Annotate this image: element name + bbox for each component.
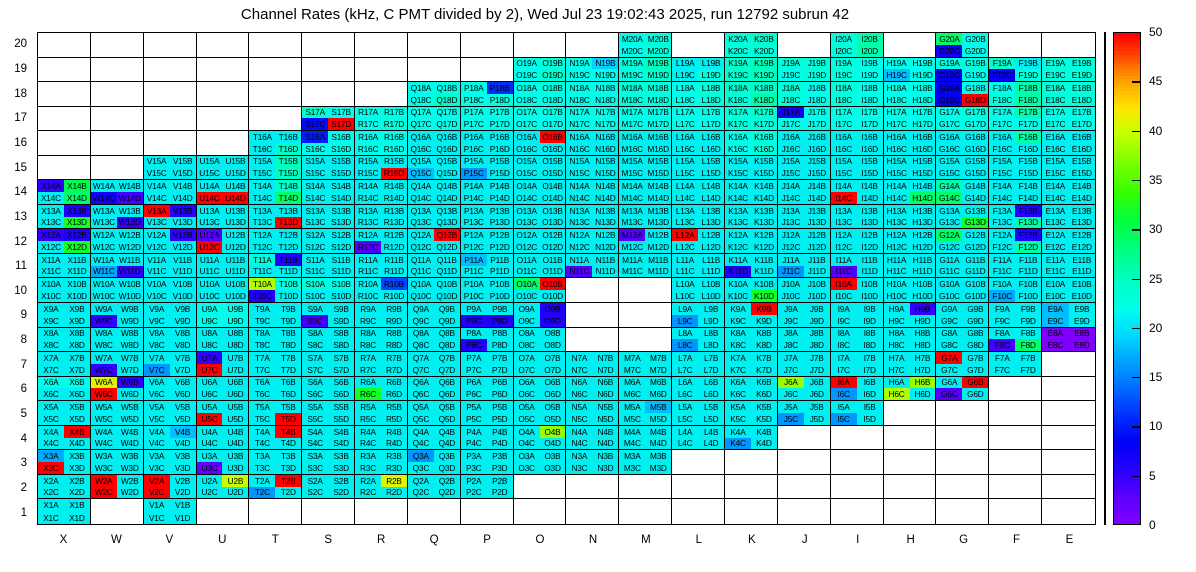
channel-G13D: G13D — [962, 217, 988, 229]
channel-J14B: J14B — [804, 180, 830, 192]
colorbar-left-rule — [1104, 32, 1106, 525]
channel-S17D: S17D — [328, 118, 354, 130]
channel-R13C: R13C — [355, 217, 381, 229]
channel-S5A: S5A — [302, 401, 328, 413]
empty-subcell — [566, 278, 592, 290]
channel-R6B: R6B — [381, 377, 407, 389]
heatmap-cell-G3 — [936, 450, 989, 475]
empty-subcell — [936, 413, 962, 425]
empty-subcell — [857, 426, 883, 438]
empty-subcell — [698, 45, 724, 57]
channel-K19D: K19D — [751, 69, 777, 81]
channel-G9D: G9D — [962, 315, 988, 327]
channel-T2B: T2B — [275, 475, 301, 487]
channel-V6D: V6D — [170, 388, 196, 400]
heatmap-cell-M7: M7AM7BM7CM7D — [619, 352, 672, 377]
heatmap-cell-V13: V13AV13BV13CV13D — [144, 205, 197, 230]
empty-subcell — [751, 487, 777, 499]
empty-subcell — [1015, 45, 1041, 57]
heatmap-cell-X6: X6AX6BX6CX6D — [38, 377, 91, 402]
heatmap-cell-X14: X14AX14BX14CX14D — [38, 180, 91, 205]
channel-T8B: T8B — [275, 328, 301, 340]
heatmap-cell-E15: E15AE15BE15CE15D — [1042, 156, 1095, 181]
empty-subcell — [936, 512, 962, 524]
heatmap-cell-R14: R14AR14BR14CR14D — [355, 180, 408, 205]
channel-J17D: J17D — [804, 118, 830, 130]
heatmap-cell-N8 — [566, 328, 619, 353]
empty-subcell — [698, 512, 724, 524]
channel-T11B: T11B — [275, 254, 301, 266]
empty-subcell — [328, 499, 354, 511]
channel-X5A: X5A — [38, 401, 64, 413]
channel-L8C: L8C — [672, 339, 698, 351]
channel-Q8D: Q8D — [434, 339, 460, 351]
heatmap-cell-R13: R13AR13BR13CR13D — [355, 205, 408, 230]
colorbar-tick-mark — [1132, 180, 1141, 181]
channel-V9B: V9B — [170, 303, 196, 315]
channel-R6A: R6A — [355, 377, 381, 389]
channel-M20B: M20B — [645, 33, 671, 45]
colorbar-tick-label: 15 — [1149, 370, 1162, 384]
channel-F18C: F18C — [989, 94, 1015, 106]
heatmap-cell-W18 — [91, 82, 144, 107]
channel-V13C: V13C — [144, 217, 170, 229]
channel-W14C: W14C — [91, 192, 117, 204]
channel-U6B: U6B — [222, 377, 248, 389]
empty-subcell — [672, 450, 698, 462]
empty-subcell — [64, 107, 90, 119]
channel-F9D: F9D — [1015, 315, 1041, 327]
empty-subcell — [117, 33, 143, 45]
channel-N12B: N12B — [592, 229, 618, 241]
heatmap-cell-N1 — [566, 499, 619, 524]
channel-F16C: F16C — [989, 143, 1015, 155]
channel-G14B: G14B — [962, 180, 988, 192]
empty-subcell — [249, 58, 275, 70]
channel-M4B: M4B — [645, 426, 671, 438]
channel-S12B: S12B — [328, 229, 354, 241]
channel-U2A: U2A — [197, 475, 223, 487]
channel-O10D: O10D — [540, 290, 566, 302]
channel-R10B: R10B — [381, 278, 407, 290]
channel-S3D: S3D — [328, 462, 354, 474]
channel-K6C: K6C — [725, 388, 751, 400]
empty-subcell — [989, 499, 1015, 511]
channel-N7B: N7B — [592, 352, 618, 364]
channel-P6D: P6D — [487, 388, 513, 400]
heatmap-cell-R11: R11AR11BR11CR11D — [355, 254, 408, 279]
heatmap-cell-O15: O15AO15BO15CO15D — [514, 156, 567, 181]
empty-subcell — [936, 487, 962, 499]
empty-subcell — [328, 82, 354, 94]
heatmap-cell-R6: R6AR6BR6CR6D — [355, 377, 408, 402]
empty-subcell — [672, 462, 698, 474]
y-tick-label: 4 — [21, 433, 27, 445]
empty-subcell — [514, 512, 540, 524]
channel-Q5B: Q5B — [434, 401, 460, 413]
empty-subcell — [117, 131, 143, 143]
heatmap-cell-F5 — [989, 401, 1042, 426]
empty-subcell — [962, 462, 988, 474]
channel-T16A: T16A — [249, 131, 275, 143]
channel-U6D: U6D — [222, 388, 248, 400]
channel-K4D: K4D — [751, 438, 777, 450]
channel-J5B: J5B — [804, 401, 830, 413]
heatmap-cell-T10: T10AT10BT10CT10D — [249, 278, 302, 303]
channel-P9A: P9A — [461, 303, 487, 315]
channel-H11C: H11C — [884, 266, 910, 278]
channel-I16C: I16C — [831, 143, 857, 155]
empty-subcell — [831, 426, 857, 438]
channel-U11D: U11D — [222, 266, 248, 278]
channel-P10A: P10A — [461, 278, 487, 290]
channel-W9B: W9B — [117, 303, 143, 315]
channel-J8B: J8B — [804, 328, 830, 340]
channel-J16C: J16C — [778, 143, 804, 155]
channel-O11A: O11A — [514, 254, 540, 266]
channel-W13A: W13A — [91, 205, 117, 217]
empty-subcell — [592, 487, 618, 499]
heatmap-cell-W3: W3AW3BW3CW3D — [91, 450, 144, 475]
heatmap-cell-X18 — [38, 82, 91, 107]
channel-L18C: L18C — [672, 94, 698, 106]
empty-subcell — [592, 499, 618, 511]
x-tick-label: Q — [430, 534, 439, 546]
channel-H12B: H12B — [910, 229, 936, 241]
heatmap-cell-W2: W2AW2BW2CW2D — [91, 475, 144, 500]
empty-subcell — [117, 499, 143, 511]
channel-X5C: X5C — [38, 413, 64, 425]
heatmap-cell-H14: H14AH14BH14CH14D — [884, 180, 937, 205]
channel-O19A: O19A — [514, 58, 540, 70]
channel-P6C: P6C — [461, 388, 487, 400]
channel-U14D: U14D — [222, 192, 248, 204]
heatmap-cell-H9: H9AH9BH9CH9D — [884, 303, 937, 328]
channel-J12C: J12C — [778, 241, 804, 253]
channel-T16C: T16C — [249, 143, 275, 155]
heatmap-cell-Q4: Q4AQ4BQ4CQ4D — [408, 426, 461, 451]
empty-subcell — [1069, 426, 1095, 438]
empty-subcell — [64, 168, 90, 180]
channel-P3C: P3C — [461, 462, 487, 474]
channel-W12D: W12D — [117, 241, 143, 253]
channel-R6C: R6C — [355, 388, 381, 400]
empty-subcell — [910, 487, 936, 499]
channel-L15B: L15B — [698, 156, 724, 168]
heatmap-cell-G4 — [936, 426, 989, 451]
heatmap-cell-X8: X8AX8BX8CX8D — [38, 328, 91, 353]
channel-R8D: R8D — [381, 339, 407, 351]
empty-subcell — [831, 475, 857, 487]
empty-subcell — [804, 45, 830, 57]
channel-E18B: E18B — [1069, 82, 1095, 94]
channel-H9C: H9C — [884, 315, 910, 327]
channel-U8C: U8C — [197, 339, 223, 351]
channel-F7B: F7B — [1015, 352, 1041, 364]
heatmap-cell-W15 — [91, 156, 144, 181]
channel-J13C: J13C — [778, 217, 804, 229]
channel-I11D: I11D — [857, 266, 883, 278]
heatmap-cell-J11: J11AJ11BJ11CJ11D — [778, 254, 831, 279]
channel-J9B: J9B — [804, 303, 830, 315]
channel-Q12B: Q12B — [434, 229, 460, 241]
channel-L5C: L5C — [672, 413, 698, 425]
empty-subcell — [645, 487, 671, 499]
channel-M14C: M14C — [619, 192, 645, 204]
channel-V1D: V1D — [170, 512, 196, 524]
empty-subcell — [989, 401, 1015, 413]
channel-E8C: E8C — [1042, 339, 1068, 351]
channel-E17B: E17B — [1069, 107, 1095, 119]
channel-K15B: K15B — [751, 156, 777, 168]
heatmap-cell-W10: W10AW10BW10CW10D — [91, 278, 144, 303]
colorbar-tick-label: 20 — [1149, 321, 1162, 335]
empty-subcell — [989, 426, 1015, 438]
channel-W9A: W9A — [91, 303, 117, 315]
channel-M16C: M16C — [619, 143, 645, 155]
heatmap-cell-R7: R7AR7BR7CR7D — [355, 352, 408, 377]
channel-N12D: N12D — [592, 241, 618, 253]
channel-T6C: T6C — [249, 388, 275, 400]
heatmap-cell-M10 — [619, 278, 672, 303]
channel-U2B: U2B — [222, 475, 248, 487]
channel-F17C: F17C — [989, 118, 1015, 130]
heatmap-cell-P20 — [461, 33, 514, 58]
channel-U9C: U9C — [197, 315, 223, 327]
colorbar-tick-label: 25 — [1149, 272, 1162, 286]
channel-J6D: J6D — [804, 388, 830, 400]
channel-M20C: M20C — [619, 45, 645, 57]
empty-subcell — [1042, 33, 1068, 45]
channel-T6B: T6B — [275, 377, 301, 389]
channel-N15A: N15A — [566, 156, 592, 168]
empty-subcell — [487, 499, 513, 511]
channel-X1A: X1A — [38, 499, 64, 511]
channel-R17B: R17B — [381, 107, 407, 119]
empty-subcell — [38, 82, 64, 94]
channel-P4A: P4A — [461, 426, 487, 438]
heatmap-cell-T4: T4AT4BT4CT4D — [249, 426, 302, 451]
heatmap-cell-S12: S12AS12BS12CS12D — [302, 229, 355, 254]
channel-J15D: J15D — [804, 168, 830, 180]
channel-K9B: K9B — [751, 303, 777, 315]
channel-P12C: P12C — [461, 241, 487, 253]
channel-H7B: H7B — [910, 352, 936, 364]
heatmap-cell-O7: O7AO7BO7CO7D — [514, 352, 567, 377]
y-tick-label: 15 — [14, 162, 27, 174]
channel-G19B: G19B — [962, 58, 988, 70]
channel-X12A: X12A — [38, 229, 64, 241]
heatmap-cell-I7: I7AI7BI7CI7D — [831, 352, 884, 377]
heatmap-cell-V1: V1AV1BV1CV1D — [144, 499, 197, 524]
heatmap-cell-I2 — [831, 475, 884, 500]
channel-W5D: W5D — [117, 413, 143, 425]
empty-subcell — [117, 45, 143, 57]
heatmap-cell-L13: L13AL13BL13CL13D — [672, 205, 725, 230]
empty-subcell — [698, 450, 724, 462]
channel-F15B: F15B — [1015, 156, 1041, 168]
channel-L18A: L18A — [672, 82, 698, 94]
empty-subcell — [302, 82, 328, 94]
channel-H17B: H17B — [910, 107, 936, 119]
channel-O5C: O5C — [514, 413, 540, 425]
empty-subcell — [884, 401, 910, 413]
empty-subcell — [910, 401, 936, 413]
channel-J15A: J15A — [778, 156, 804, 168]
channel-S7B: S7B — [328, 352, 354, 364]
channel-R11B: R11B — [381, 254, 407, 266]
channel-Q3D: Q3D — [434, 462, 460, 474]
channel-N14C: N14C — [566, 192, 592, 204]
channel-O6D: O6D — [540, 388, 566, 400]
empty-subcell — [778, 450, 804, 462]
channel-H17A: H17A — [884, 107, 910, 119]
channel-N3D: N3D — [592, 462, 618, 474]
channel-P9C: P9C — [461, 315, 487, 327]
heatmap-cell-L14: L14AL14BL14CL14D — [672, 180, 725, 205]
channel-E16D: E16D — [1069, 143, 1095, 155]
channel-Q15C: Q15C — [408, 168, 434, 180]
channel-V12A: V12A — [144, 229, 170, 241]
channel-X14B: X14B — [64, 180, 90, 192]
channel-W12A: W12A — [91, 229, 117, 241]
heatmap-cell-W11: W11AW11BW11CW11D — [91, 254, 144, 279]
heatmap-cell-P11: P11AP11BP11CP11D — [461, 254, 514, 279]
channel-K11A: K11A — [725, 254, 751, 266]
channel-Q13B: Q13B — [434, 205, 460, 217]
channel-J8A: J8A — [778, 328, 804, 340]
channel-I5A: I5A — [831, 401, 857, 413]
channel-U7D: U7D — [222, 364, 248, 376]
empty-subcell — [249, 118, 275, 130]
empty-subcell — [962, 413, 988, 425]
channel-X9B: X9B — [64, 303, 90, 315]
heatmap-cell-K8: K8AK8BK8CK8D — [725, 328, 778, 353]
channel-U12D: U12D — [222, 241, 248, 253]
channel-O9C: O9C — [514, 315, 540, 327]
channel-K19B: K19B — [751, 58, 777, 70]
channel-V1A: V1A — [144, 499, 170, 511]
channel-E9C: E9C — [1042, 315, 1068, 327]
channel-S14B: S14B — [328, 180, 354, 192]
empty-subcell — [1015, 487, 1041, 499]
channel-F12D: F12D — [1015, 241, 1041, 253]
empty-subcell — [619, 499, 645, 511]
heatmap-cell-Q9: Q9AQ9BQ9CQ9D — [408, 303, 461, 328]
empty-subcell — [91, 499, 117, 511]
heatmap-cell-I18: I18AI18BI18CI18D — [831, 82, 884, 107]
channel-K12B: K12B — [751, 229, 777, 241]
heatmap-cell-W12: W12AW12BW12CW12D — [91, 229, 144, 254]
empty-subcell — [962, 450, 988, 462]
channel-H12C: H12C — [884, 241, 910, 253]
channel-N7A: N7A — [566, 352, 592, 364]
empty-subcell — [38, 131, 64, 143]
empty-subcell — [197, 69, 223, 81]
channel-K15A: K15A — [725, 156, 751, 168]
channel-G9C: G9C — [936, 315, 962, 327]
channel-V10D: V10D — [170, 290, 196, 302]
channel-R13B: R13B — [381, 205, 407, 217]
channel-Q3A: Q3A — [408, 450, 434, 462]
empty-subcell — [566, 499, 592, 511]
channel-O8A: O8A — [514, 328, 540, 340]
channel-T14C: T14C — [249, 192, 275, 204]
channel-X14C: X14C — [38, 192, 64, 204]
channel-H16A: H16A — [884, 131, 910, 143]
empty-subcell — [698, 462, 724, 474]
channel-U9B: U9B — [222, 303, 248, 315]
heatmap-cell-E16: E16AE16BE16CE16D — [1042, 131, 1095, 156]
y-tick-label: 5 — [21, 408, 27, 420]
channel-G8A: G8A — [936, 328, 962, 340]
channel-H12D: H12D — [910, 241, 936, 253]
channel-R11D: R11D — [381, 266, 407, 278]
heatmap-cell-J16: J16AJ16BJ16CJ16D — [778, 131, 831, 156]
channel-G14C: G14C — [936, 192, 962, 204]
heatmap-cell-F2 — [989, 475, 1042, 500]
channel-X2A: X2A — [38, 475, 64, 487]
channel-U10A: U10A — [197, 278, 223, 290]
heatmap-cell-L2 — [672, 475, 725, 500]
channel-T10D: T10D — [275, 290, 301, 302]
channel-U15C: U15C — [197, 168, 223, 180]
empty-subcell — [170, 45, 196, 57]
channel-H10D: H10D — [910, 290, 936, 302]
channel-F13C: F13C — [989, 217, 1015, 229]
channel-H19C: H19C — [884, 69, 910, 81]
channel-X10B: X10B — [64, 278, 90, 290]
empty-subcell — [91, 107, 117, 119]
channel-P11C: P11C — [461, 266, 487, 278]
heatmap-cell-S1 — [302, 499, 355, 524]
channel-W3B: W3B — [117, 450, 143, 462]
channel-R14D: R14D — [381, 192, 407, 204]
channel-J10D: J10D — [804, 290, 830, 302]
heatmap-cell-K1 — [725, 499, 778, 524]
empty-subcell — [725, 475, 751, 487]
heatmap-cell-G8: G8AG8BG8CG8D — [936, 328, 989, 353]
channel-V5A: V5A — [144, 401, 170, 413]
channel-S6B: S6B — [328, 377, 354, 389]
channel-M18C: M18C — [619, 94, 645, 106]
channel-H16C: H16C — [884, 143, 910, 155]
channel-W7C: W7C — [91, 364, 117, 376]
channel-N11C: N11C — [566, 266, 592, 278]
channel-U8A: U8A — [197, 328, 223, 340]
heatmap-cell-T19 — [249, 58, 302, 83]
heatmap-cell-J20 — [778, 33, 831, 58]
channel-G11D: G11D — [962, 266, 988, 278]
empty-subcell — [751, 475, 777, 487]
channel-R16D: R16D — [381, 143, 407, 155]
channel-K10A: K10A — [725, 278, 751, 290]
heatmap-cell-V7: V7AV7BV7CV7D — [144, 352, 197, 377]
channel-K15C: K15C — [725, 168, 751, 180]
channel-P12A: P12A — [461, 229, 487, 241]
channel-T11C: T11C — [249, 266, 275, 278]
channel-M19C: M19C — [619, 69, 645, 81]
empty-subcell — [804, 499, 830, 511]
empty-subcell — [910, 426, 936, 438]
empty-subcell — [144, 143, 170, 155]
heatmap-cell-S6: S6AS6BS6CS6D — [302, 377, 355, 402]
empty-subcell — [91, 512, 117, 524]
heatmap-cell-R19 — [355, 58, 408, 83]
empty-subcell — [566, 475, 592, 487]
x-tick-label: F — [1013, 534, 1020, 546]
channel-S4B: S4B — [328, 426, 354, 438]
